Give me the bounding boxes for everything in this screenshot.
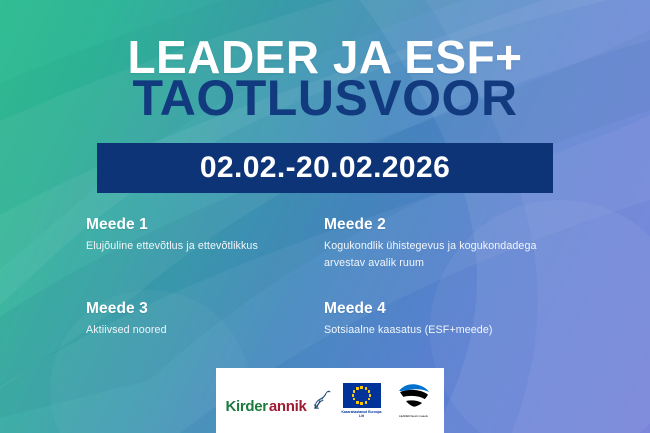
measure-description: Sotsiaalne kaasatus (ESF+meede) — [324, 322, 574, 339]
heron-bird-icon — [309, 388, 331, 413]
measures-grid: Meede 1 Elujõuline ettevõtlus ja ettevõt… — [86, 216, 586, 339]
european-union-logo: Kaasrahastanud Euroopa Liit — [341, 383, 383, 418]
measure-title: Meede 1 — [86, 216, 316, 234]
estonian-leader-logo: LEADER Eesti maaelu — [393, 383, 435, 419]
measure-item-4: Meede 4 Sotsiaalne kaasatus (ESF+meede) — [316, 300, 586, 339]
eu-flag-icon — [343, 383, 381, 408]
estonian-logo-caption: LEADER Eesti maaelu — [393, 415, 435, 419]
measure-title: Meede 4 — [324, 300, 586, 318]
poster-headline: LEADER JA ESF+ TAOTLUSVOOR — [0, 36, 650, 121]
leader-esf-announcement-poster: LEADER JA ESF+ TAOTLUSVOOR 02.02.-20.02.… — [0, 0, 650, 433]
measure-item-3: Meede 3 Aktiivsed noored — [86, 300, 316, 339]
date-range-band: 02.02.-20.02.2026 — [97, 143, 553, 193]
date-range-text: 02.02.-20.02.2026 — [200, 151, 450, 185]
kirderannik-wordmark-part1: Kirder — [225, 399, 267, 414]
kirderannik-wordmark-part2: annik — [269, 399, 307, 414]
measure-description: Elujõuline ettevõtlus ja ettevõtlikkus — [86, 238, 316, 255]
measure-title: Meede 3 — [86, 300, 316, 318]
kirderannik-logo: Kirderannik — [225, 388, 330, 414]
measure-description: Aktiivsed noored — [86, 322, 316, 339]
measure-item-1: Meede 1 Elujõuline ettevõtlus ja ettevõt… — [86, 216, 316, 300]
estonian-leader-swallow-icon — [397, 383, 431, 414]
measure-title: Meede 2 — [324, 216, 586, 234]
measure-item-2: Meede 2 Kogukondlik ühistegevus ja koguk… — [316, 216, 586, 300]
footer-logo-plate: Kirderannik — [216, 368, 444, 433]
eu-logo-caption: Kaasrahastanud Euroopa Liit — [341, 410, 383, 418]
measure-description: Kogukondlik ühistegevus ja kogukondadega… — [324, 238, 574, 271]
headline-line-2: TAOTLUSVOOR — [0, 75, 650, 121]
